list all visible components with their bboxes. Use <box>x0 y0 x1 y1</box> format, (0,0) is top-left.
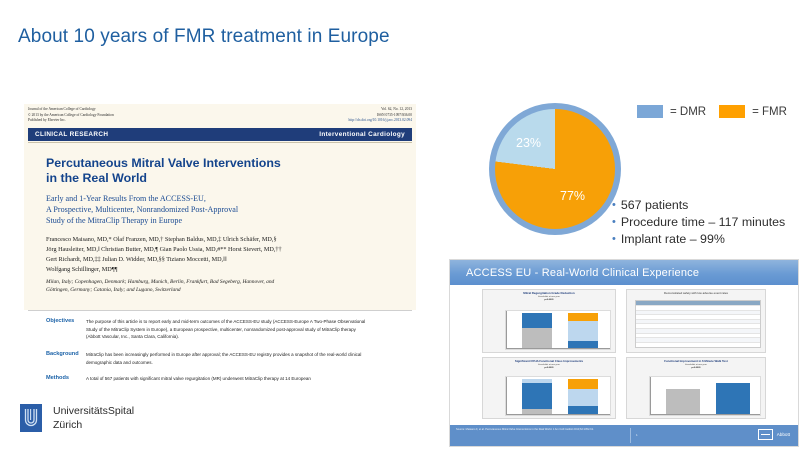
masthead-right: Vol. 62, No. 12, 2013 ISSN 0735-1097/$36… <box>348 107 412 124</box>
article-title: Percutaneous Mitral Valve Interventions … <box>46 156 376 185</box>
article-divider-top <box>28 142 412 143</box>
pie-label-dmr: 23% <box>516 136 541 150</box>
table-row <box>636 342 760 347</box>
list-item-label: Implant rate – 99% <box>621 231 725 248</box>
fmr-swatch <box>719 105 745 118</box>
dmr-swatch <box>637 105 663 118</box>
mini-bar-chart <box>505 310 611 350</box>
access-eu-header-label: ACCESS EU - Real-World Clinical Experien… <box>450 267 699 279</box>
safety-table <box>635 300 761 348</box>
mini-bar-chart <box>505 376 611 416</box>
quadrant-pvalue: p<0.0001 <box>483 367 615 370</box>
page-title: About 10 years of FMR treatment in Europ… <box>18 26 390 48</box>
access-eu-slide-image: ACCESS EU - Real-World Clinical Experien… <box>450 260 798 446</box>
list-item-label: Procedure time – 117 minutes <box>621 214 785 231</box>
usz-line-2: Zürich <box>53 418 134 432</box>
quadrant-mr-grade: Mitral Regurgitation Grade Reduction thr… <box>482 289 616 353</box>
quadrant-nyha: Significant NYHA Functional Class Improv… <box>482 357 616 419</box>
key-stats-list: • 567 patients • Procedure time – 117 mi… <box>612 197 800 248</box>
abstract-text: The purpose of this article is to report… <box>86 318 366 341</box>
usz-line-1: UniversitätsSpital <box>53 404 134 418</box>
list-item: • Procedure time – 117 minutes <box>612 214 800 231</box>
bullet-icon: • <box>612 197 616 214</box>
section-label-right: Interventional Cardiology <box>319 131 405 138</box>
usz-logo-text: UniversitätsSpital Zürich <box>53 404 134 432</box>
access-eu-footer: Source: Maisano F, et al. Percutaneous M… <box>450 425 798 446</box>
abbott-mark-icon <box>758 429 773 440</box>
access-eu-body: Mitral Regurgitation Grade Reduction thr… <box>450 285 798 425</box>
masthead-left: Journal of the American College of Cardi… <box>28 107 114 124</box>
mini-bar-chart <box>649 376 761 416</box>
abbott-logo: Abbott <box>758 429 790 440</box>
page-number: 1 <box>636 433 638 437</box>
abstract-label: Background <box>24 351 86 366</box>
pie-label-fmr: 77% <box>560 189 585 203</box>
legend-label-dmr: = DMR <box>670 106 706 118</box>
article-section-bar: CLINICAL RESEARCH Interventional Cardiol… <box>28 128 412 141</box>
footer-citation: Source: Maisano F, et al. Percutaneous M… <box>456 428 606 432</box>
list-item: • Implant rate – 99% <box>612 231 800 248</box>
quadrant-safety: Demonstrated safety with low adverse eve… <box>626 289 766 353</box>
abstract-text: A total of 567 patients with significant… <box>86 375 366 383</box>
quadrant-title: Demonstrated safety with low adverse eve… <box>627 290 765 296</box>
list-item: • 567 patients <box>612 197 800 214</box>
usz-mark-icon <box>20 404 42 432</box>
universitaetsspital-zuerich-logo: UniversitätsSpital Zürich <box>20 404 134 432</box>
mr-etiology-pie-chart: 23% 77% <box>489 103 621 235</box>
article-affiliations: Milan, Italy; Copenhagen, Denmark; Hambu… <box>46 278 394 295</box>
quadrant-pvalue: p<0.0001 <box>627 367 765 370</box>
journal-article-image: Journal of the American College of Cardi… <box>24 104 416 394</box>
pie-slices <box>495 109 615 229</box>
section-label-left: CLINICAL RESEARCH <box>35 131 108 138</box>
abstract-row-background: Background MitraClip has been increasing… <box>24 351 366 366</box>
quadrant-pvalue: p<0.0001 <box>483 299 615 302</box>
article-masthead: Journal of the American College of Cardi… <box>28 107 412 124</box>
abstract-text: MitraClip has been increasingly performe… <box>86 351 366 366</box>
bullet-icon: • <box>612 231 616 248</box>
legend-label-fmr: = FMR <box>752 106 787 118</box>
abbott-logo-text: Abbott <box>777 432 790 438</box>
article-doi: http://dx.doi.org/10.1016/j.jacc.2013.02… <box>348 118 412 124</box>
footer-divider <box>630 428 631 443</box>
list-item-label: 567 patients <box>621 197 689 214</box>
bullet-icon: • <box>612 214 616 231</box>
legend-item-dmr: = DMR <box>637 105 706 118</box>
abstract-row-methods: Methods A total of 567 patients with sig… <box>24 375 366 383</box>
article-divider-abstract <box>28 310 412 311</box>
legend-item-fmr: = FMR <box>719 105 787 118</box>
article-authors: Francesco Maisano, MD,* Olaf Franzen, MD… <box>46 235 394 275</box>
article-subtitle: Early and 1-Year Results From the ACCESS… <box>46 194 386 227</box>
abstract-label: Objectives <box>24 318 86 341</box>
abstract-label: Methods <box>24 375 86 383</box>
access-eu-header: ACCESS EU - Real-World Clinical Experien… <box>450 260 798 285</box>
chart-legend: = DMR = FMR <box>637 105 787 118</box>
abstract-row-objectives: Objectives The purpose of this article i… <box>24 318 366 341</box>
quadrant-walk-test: Functional Improvement in 6 Minute Walk … <box>626 357 766 419</box>
